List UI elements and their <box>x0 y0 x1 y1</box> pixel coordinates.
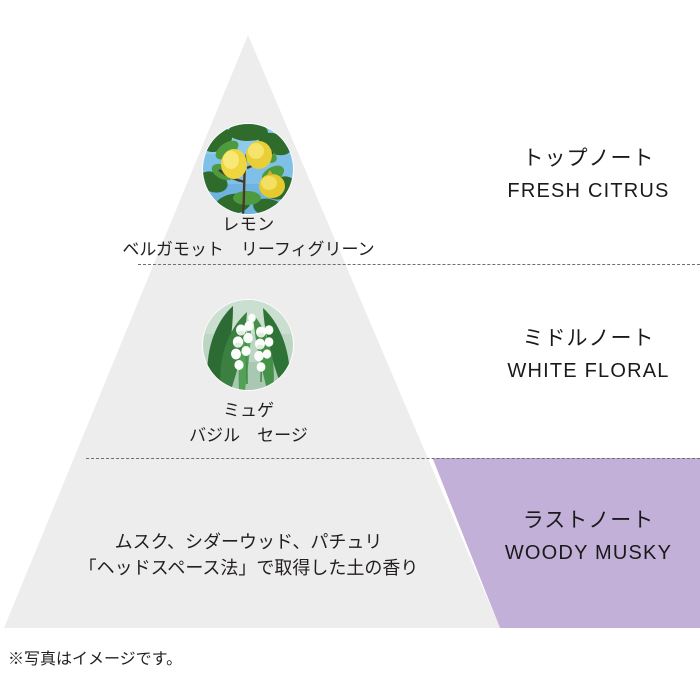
top-note-label: トップノート FRESH CITRUS <box>477 142 700 203</box>
middle-note-label: ミドルノート WHITE FLORAL <box>477 322 700 383</box>
ingredient-line: バジル セージ <box>0 424 497 449</box>
middle-note-ingredients: ミュゲ バジル セージ <box>0 399 497 448</box>
middle-note-label-en: WHITE FLORAL <box>477 360 700 383</box>
ingredient-line: ミュゲ <box>0 399 497 424</box>
fragrance-pyramid-diagram: レモン ベルガモット リーフィグリーン ミュゲ バジル セージ ムスク、シダーウ… <box>0 0 700 700</box>
ingredient-line: 「ヘッドスペース法」で取得した土の香り <box>0 555 497 581</box>
ingredient-line: ムスク、シダーウッド、パチュリ <box>0 529 497 555</box>
last-note-label-en: WOODY MUSKY <box>477 542 700 565</box>
top-note-label-en: FRESH CITRUS <box>477 180 700 203</box>
divider-middle-last <box>86 458 700 459</box>
last-note-label-jp: ラストノート <box>477 504 700 534</box>
divider-top-middle <box>138 264 700 265</box>
top-note-label-jp: トップノート <box>477 142 700 172</box>
lemon-photo <box>203 124 293 214</box>
last-note-ingredients: ムスク、シダーウッド、パチュリ 「ヘッドスペース法」で取得した土の香り <box>0 529 497 581</box>
middle-note-label-jp: ミドルノート <box>477 322 700 352</box>
ingredient-line: レモン <box>0 213 497 238</box>
last-note-label: ラストノート WOODY MUSKY <box>477 504 700 565</box>
footnote: ※写真はイメージです。 <box>8 645 182 669</box>
lily-of-the-valley-photo <box>203 300 293 390</box>
top-note-ingredients: レモン ベルガモット リーフィグリーン <box>0 213 497 262</box>
ingredient-line: ベルガモット リーフィグリーン <box>0 238 497 263</box>
